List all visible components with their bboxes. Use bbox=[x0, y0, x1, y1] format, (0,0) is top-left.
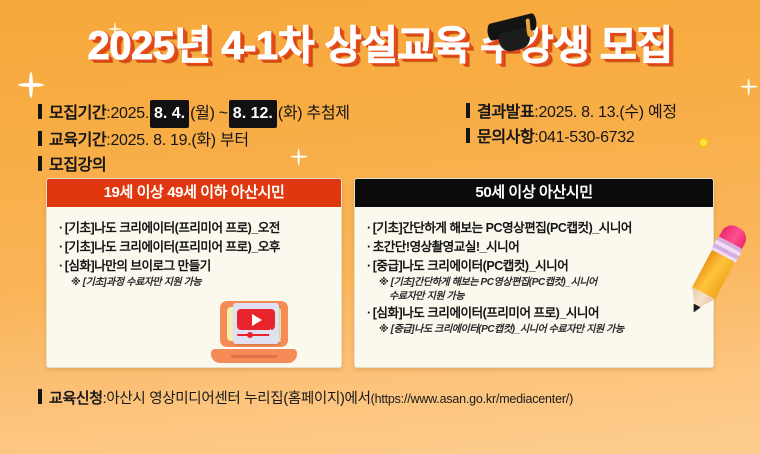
info-row-contact: 문의사항 : 041-530-6732 bbox=[466, 125, 677, 150]
info-row-recruit-period: 모집기간 : 2025. 8. 4. (월) ~ 8. 12. (화) 추첨제 bbox=[38, 100, 350, 128]
course-bullet-icon: · bbox=[367, 240, 371, 254]
course-bullet-icon: · bbox=[367, 259, 371, 273]
course-bullet-icon: · bbox=[367, 221, 371, 235]
course-item-label: [기초]나도 크리에이터(프리미어 프로)_오전 bbox=[65, 221, 280, 235]
course-item-label: [심화]나만의 브이로그 만들기 bbox=[65, 259, 211, 273]
course-item-label: [중급]나도 크리에이터(PC캡컷)_시니어 bbox=[373, 259, 569, 273]
course-card-body: ·[기초]간단하게 해보는 PC영상편집(PC캡컷)_시니어 ·초간단!영상촬영… bbox=[355, 207, 713, 345]
course-note: ※ [기초]간단하게 해보는 PC영상편집(PC캡컷)_시니어 bbox=[367, 276, 703, 290]
bullet-bar-icon bbox=[466, 128, 470, 143]
footer-value: 아산시 영상미디어센터 누리집(홈페이지)에서 bbox=[106, 387, 370, 408]
course-bullet-icon: · bbox=[59, 221, 63, 235]
course-item: ·[기초]간단하게 해보는 PC영상편집(PC캡컷)_시니어 bbox=[367, 219, 703, 238]
page-title: 2025년 4-1차 상설교육 수강생 모집 bbox=[87, 26, 672, 66]
footer-label: 교육신청 bbox=[49, 387, 103, 408]
course-item: ·[중급]나도 크리에이터(PC캡컷)_시니어 bbox=[367, 257, 703, 276]
course-item: ·[심화]나도 크리에이터(프리미어 프로)_시니어 bbox=[367, 304, 703, 323]
course-bullet-icon: · bbox=[59, 240, 63, 254]
course-item: ·[기초]나도 크리에이터(프리미어 프로)_오전 bbox=[59, 219, 331, 238]
graduation-cap-tassel-ball bbox=[526, 29, 534, 37]
application-info-row: 교육신청 : 아산시 영상미디어센터 누리집(홈페이지)에서 (https://… bbox=[38, 387, 573, 408]
info-label: 모집강의 bbox=[49, 153, 106, 178]
dot-icon bbox=[700, 139, 707, 146]
info-value-prefix: 2025. bbox=[110, 101, 149, 126]
info-value-suffix: (화) 추첨제 bbox=[278, 101, 350, 126]
course-item-label: [심화]나도 크리에이터(프리미어 프로)_시니어 bbox=[373, 306, 599, 320]
laptop-trackpad bbox=[231, 355, 277, 358]
application-url[interactable]: (https://www.asan.go.kr/mediacenter/) bbox=[371, 392, 573, 406]
course-item: ·[심화]나만의 브이로그 만들기 bbox=[59, 257, 331, 276]
bullet-bar-icon bbox=[38, 104, 42, 119]
course-item: ·초간단!영상촬영교실!_시니어 bbox=[367, 238, 703, 257]
bullet-bar-icon bbox=[466, 103, 470, 118]
info-left-column: 모집기간 : 2025. 8. 4. (월) ~ 8. 12. (화) 추첨제 … bbox=[38, 100, 350, 178]
info-label: 문의사항 bbox=[477, 125, 534, 150]
info-label: 결과발표 bbox=[477, 100, 534, 125]
course-item: ·[기초]나도 크리에이터(프리미어 프로)_오후 bbox=[59, 238, 331, 257]
poster-title-area: 2025년 4-1차 상설교육 수강생 모집 bbox=[0, 26, 760, 66]
course-bullet-icon: · bbox=[59, 259, 63, 273]
sparkle-icon bbox=[740, 78, 757, 95]
sparkle-icon bbox=[18, 72, 44, 98]
course-note: ※ [기초]과정 수료자만 지원 가능 bbox=[59, 276, 331, 290]
course-card-header: 50세 이상 아산시민 bbox=[355, 179, 713, 207]
bullet-bar-icon bbox=[38, 131, 42, 146]
bullet-bar-icon bbox=[38, 156, 42, 171]
course-note: ※ [중급]나도 크리에이터(PC캡컷)_시니어 수료자만 지원 가능 bbox=[367, 323, 703, 337]
info-right-column: 결과발표 : 2025. 8. 13.(수) 예정 문의사항 : 041-530… bbox=[466, 100, 677, 150]
play-icon bbox=[252, 314, 262, 326]
info-row-education-period: 교육기간 : 2025. 8. 19.(화) 부터 bbox=[38, 128, 350, 153]
course-note-continued: 수료자만 지원 가능 bbox=[367, 290, 703, 304]
info-row-result-announcement: 결과발표 : 2025. 8. 13.(수) 예정 bbox=[466, 100, 677, 125]
info-highlight-end-date: 8. 12. bbox=[229, 100, 277, 128]
course-item-label: [기초]간단하게 해보는 PC영상편집(PC캡컷)_시니어 bbox=[373, 221, 632, 235]
video-progress-bar bbox=[237, 334, 273, 336]
laptop-video-icon bbox=[211, 301, 297, 363]
info-value-mid: (월) ~ bbox=[190, 101, 228, 126]
course-card-seniors: 50세 이상 아산시민 ·[기초]간단하게 해보는 PC영상편집(PC캡컷)_시… bbox=[354, 178, 714, 368]
info-value: 2025. 8. 19.(화) 부터 bbox=[110, 128, 248, 153]
info-row-courses-heading: 모집강의 bbox=[38, 153, 350, 178]
video-progress-handle bbox=[247, 332, 253, 338]
course-item-label: 초간단!영상촬영교실!_시니어 bbox=[373, 240, 520, 254]
course-card-header: 19세 이상 49세 이하 아산시민 bbox=[47, 179, 341, 207]
info-label: 교육기간 bbox=[49, 128, 106, 153]
info-value-phone: 041-530-6732 bbox=[538, 125, 634, 150]
course-item-label: [기초]나도 크리에이터(프리미어 프로)_오후 bbox=[65, 240, 280, 254]
info-value: 2025. 8. 13.(수) 예정 bbox=[538, 100, 676, 125]
course-card-body: ·[기초]나도 크리에이터(프리미어 프로)_오전 ·[기초]나도 크리에이터(… bbox=[47, 207, 341, 298]
info-highlight-start-date: 8. 4. bbox=[150, 100, 189, 128]
info-label: 모집기간 bbox=[49, 101, 106, 126]
course-bullet-icon: · bbox=[367, 306, 371, 320]
course-card-young-adults: 19세 이상 49세 이하 아산시민 ·[기초]나도 크리에이터(프리미어 프로… bbox=[46, 178, 342, 368]
bullet-bar-icon bbox=[38, 389, 42, 404]
course-cards-container: 19세 이상 49세 이하 아산시민 ·[기초]나도 크리에이터(프리미어 프로… bbox=[46, 178, 714, 368]
